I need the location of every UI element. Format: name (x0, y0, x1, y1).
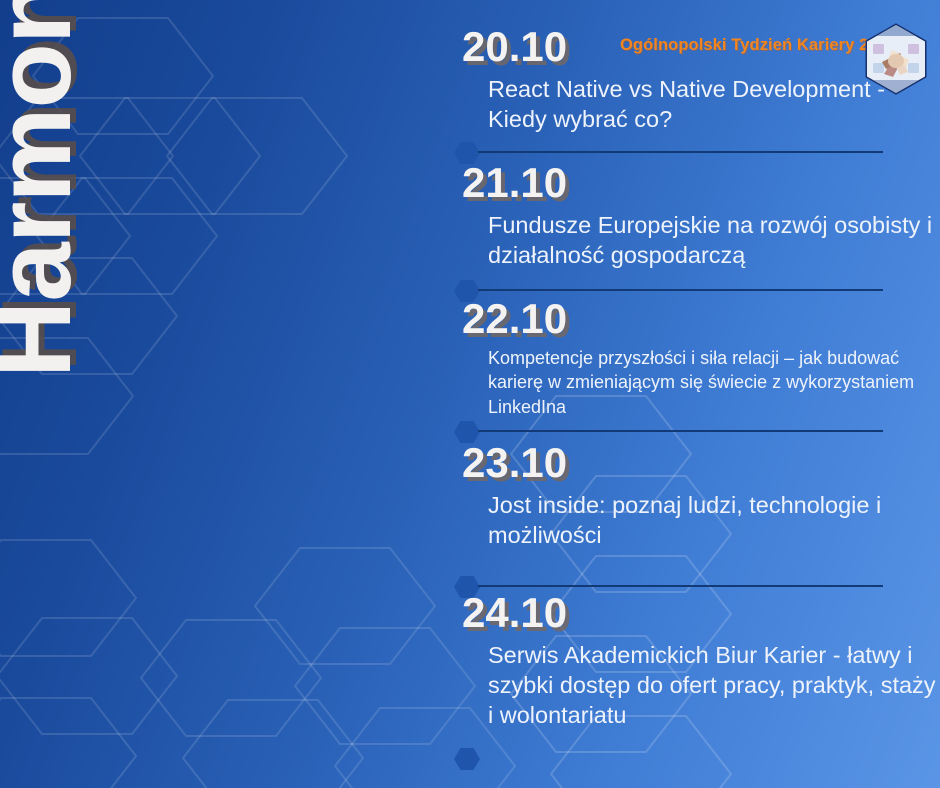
entry-date: 20.10 (462, 26, 940, 68)
divider-line (478, 430, 883, 432)
divider-line (478, 585, 883, 587)
page-title: Harmonogram (0, 0, 87, 378)
entry-title: Serwis Akademickich Biur Karier - łatwy … (488, 640, 940, 730)
entry-date: 21.10 (462, 162, 940, 204)
entry-date: 24.10 (462, 592, 940, 634)
entry-title: Kompetencje przyszłości i siła relacji –… (488, 346, 940, 419)
entry-title: Jost inside: poznaj ludzi, technologie i… (488, 490, 940, 550)
entry-title: Fundusze Europejskie na rozwój osobisty … (488, 210, 940, 270)
schedule-poster: Harmonogram Ogólnopolski Tydzień Kariery… (0, 0, 940, 788)
entry-date: 22.10 (462, 298, 940, 340)
divider-line (478, 289, 883, 291)
schedule-entry: 21.10 Fundusze Europejskie na rozwój oso… (440, 162, 940, 270)
schedule-entry: 22.10 Kompetencje przyszłości i siła rel… (440, 298, 940, 419)
schedule-entry: 20.10 React Native vs Native Development… (440, 26, 940, 134)
entry-title: React Native vs Native Development - Kie… (488, 74, 940, 134)
poster-title-area: Harmonogram (0, 0, 430, 788)
hexagon-bullet-icon (454, 748, 480, 770)
divider-line (478, 151, 883, 153)
schedule-entry: 23.10 Jost inside: poznaj ludzi, technol… (440, 442, 940, 550)
schedule-entry: 24.10 Serwis Akademickich Biur Karier - … (440, 592, 940, 730)
entry-date: 23.10 (462, 442, 940, 484)
schedule-list: Ogólnopolski Tydzień Kariery 2025 (440, 0, 940, 788)
